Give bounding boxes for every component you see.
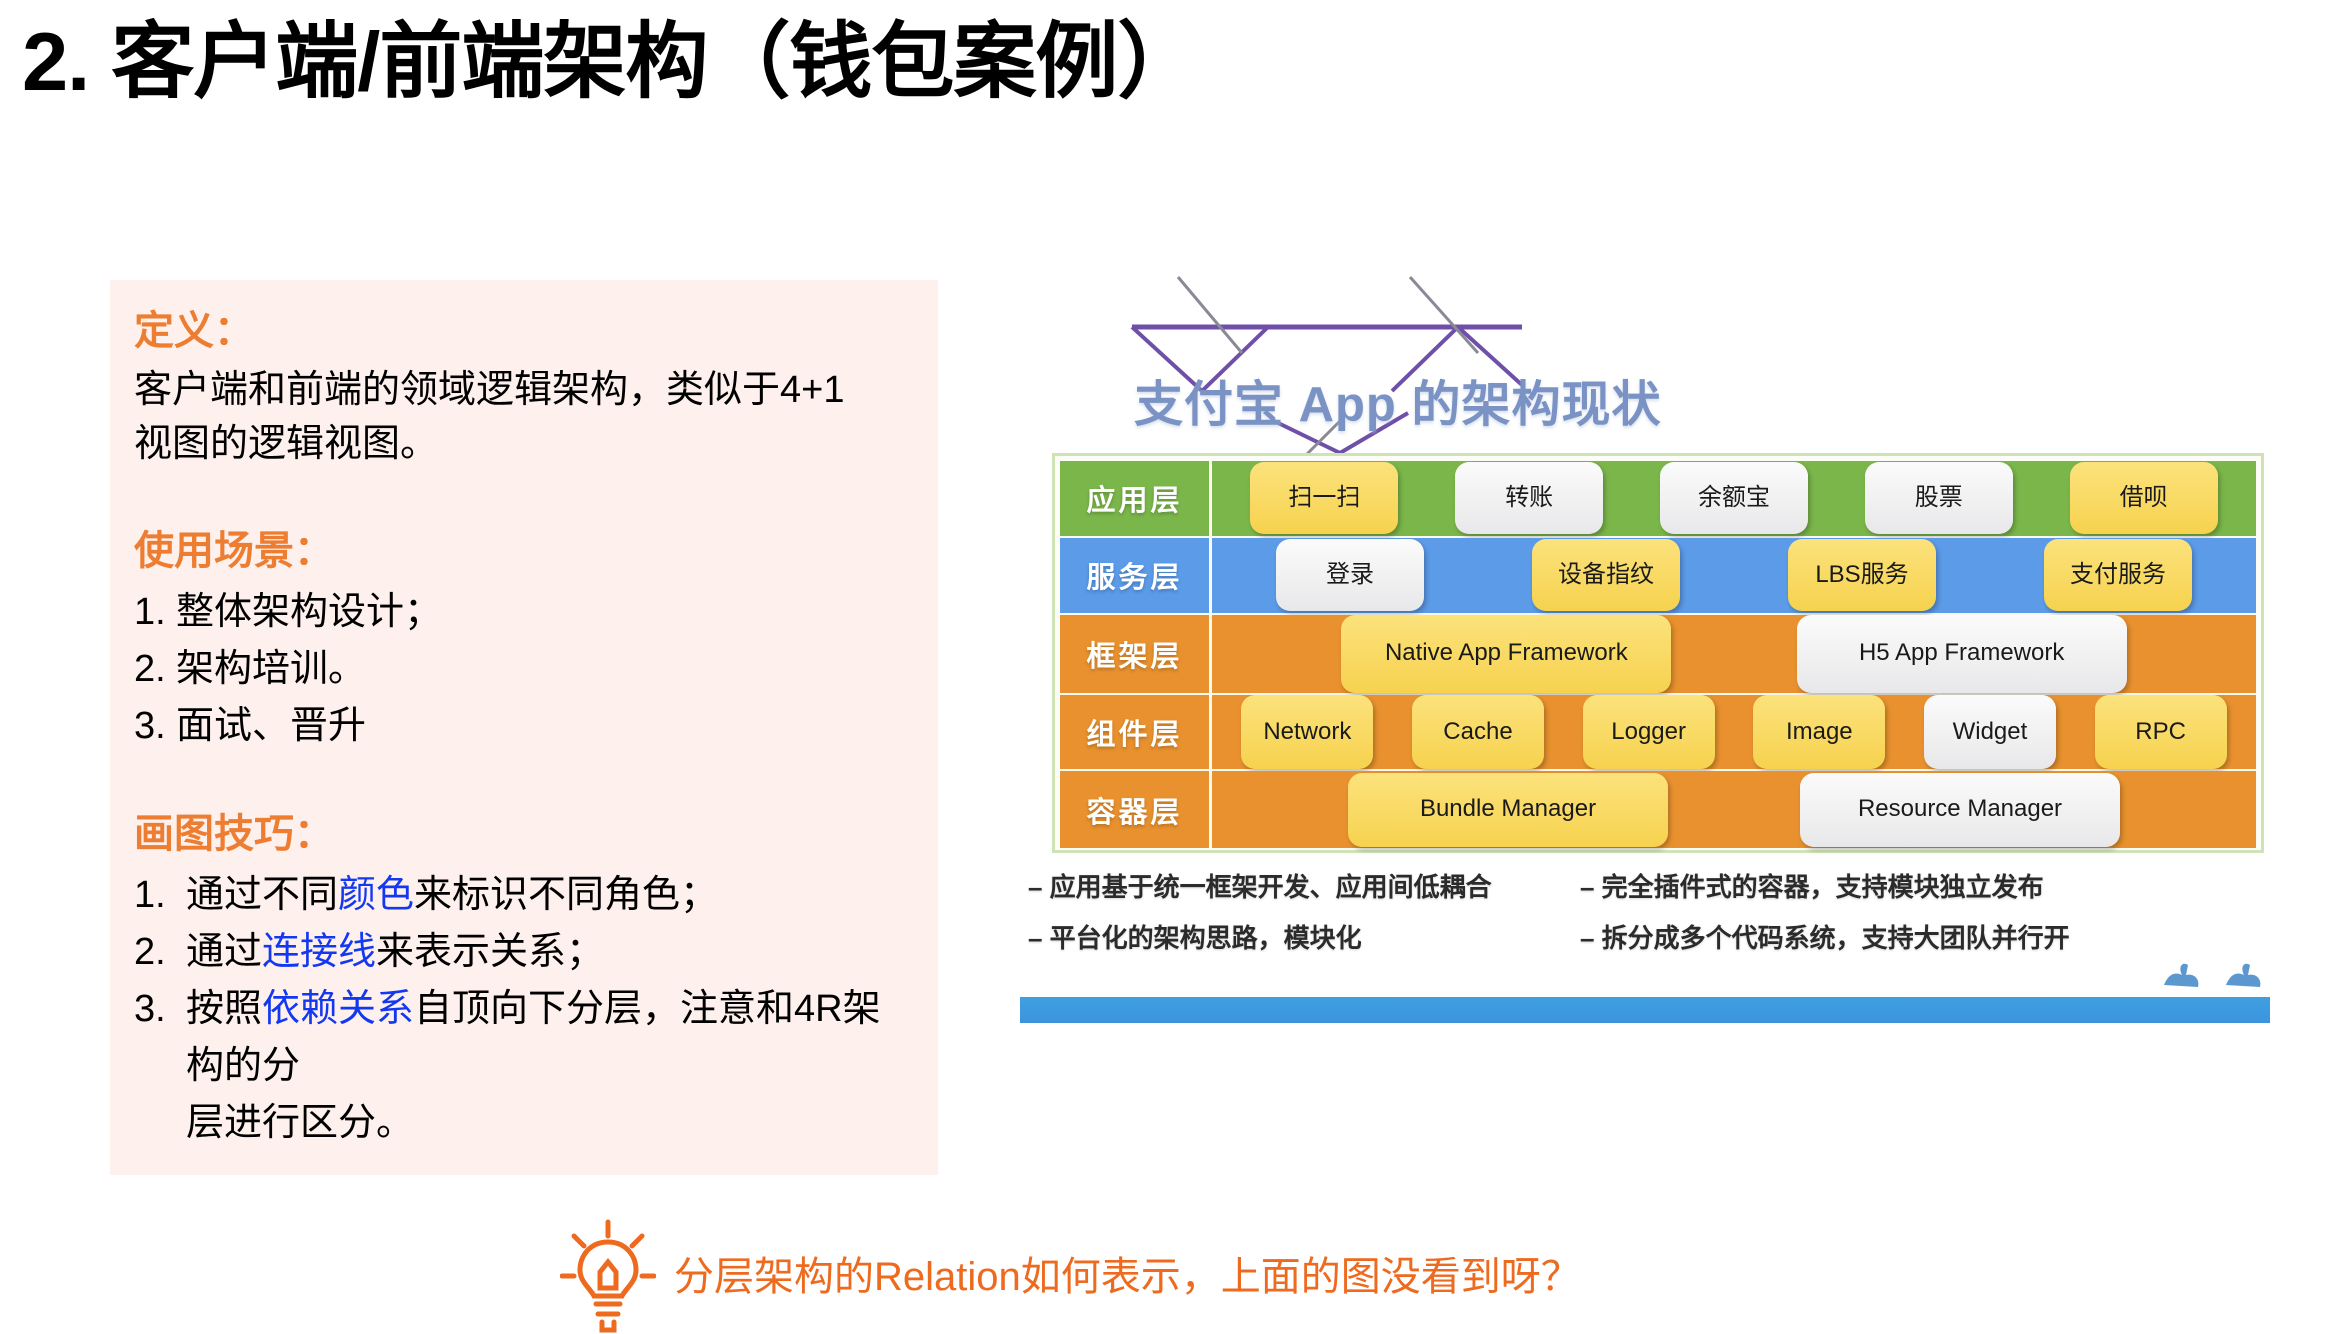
layer-items: 扫一扫 转账 余额宝 股票 借呗 <box>1212 461 2256 536</box>
architecture-diagram: 支付宝 App 的架构现状 应用层 扫一扫 转账 余额宝 股票 借呗 <box>1012 255 2272 1095</box>
chip[interactable]: Widget <box>1924 695 2056 769</box>
chip[interactable]: 支付服务 <box>2044 539 2192 611</box>
chip[interactable]: Image <box>1753 695 1885 769</box>
layer-items: Network Cache Logger Image Widget RPC <box>1212 695 2256 770</box>
list-item-label: 按照依赖关系自顶向下分层，注意和4R架构的分层进行区分。 <box>186 981 908 1152</box>
tips-heading: 画图技巧： <box>134 807 908 861</box>
layer-items: Bundle Manager Resource Manager <box>1212 771 2256 848</box>
tip-text-post: 来表示关系； <box>376 931 604 973</box>
definition-line-1: 客户端和前端的领域逻辑架构，类似于4+1 <box>134 364 908 418</box>
tip-keyword: 连接线 <box>262 931 376 973</box>
layer-label: 服务层 <box>1060 538 1212 613</box>
layers-frame: 应用层 扫一扫 转账 余额宝 股票 借呗 服务层 登录 设备指纹 <box>1052 453 2264 853</box>
chip[interactable]: Network <box>1241 695 1373 769</box>
tip-keyword: 颜色 <box>338 874 414 916</box>
list-item-number: 1. <box>134 867 186 924</box>
list-item-label: 通过不同颜色来标识不同角色； <box>186 867 718 924</box>
blue-footer-bar <box>1020 997 2270 1023</box>
tips-list: 1. 通过不同颜色来标识不同角色； 2. 通过连接线来表示关系； 3. 按照依赖… <box>134 867 908 1152</box>
bird-decoration-icon <box>2152 945 2272 1001</box>
layer-label: 容器层 <box>1060 771 1212 848</box>
chip[interactable]: 余额宝 <box>1660 462 1808 534</box>
chip[interactable]: 登录 <box>1276 539 1424 611</box>
layer-row: 容器层 Bundle Manager Resource Manager <box>1060 771 2256 848</box>
usage-list: 1. 整体架构设计； 2. 架构培训。 3. 面试、晋升 <box>134 584 908 755</box>
layer-row: 框架层 Native App Framework H5 App Framewor… <box>1060 615 2256 695</box>
layer-label: 框架层 <box>1060 615 1212 693</box>
chip[interactable]: 扫一扫 <box>1250 462 1398 534</box>
chip[interactable]: Bundle Manager <box>1348 773 1668 847</box>
tip-text: 分层架构的Relation如何表示，上面的图没看到呀？ <box>674 1257 1581 1297</box>
tips-section: 画图技巧： 1. 通过不同颜色来标识不同角色； 2. 通过连接线来表示关系； 3… <box>134 807 908 1152</box>
note-item: – 应用基于统一框架开发、应用间低耦合 <box>1028 867 1558 904</box>
chip[interactable]: H5 App Framework <box>1797 615 2127 693</box>
bottom-tip: 分层架构的Relation如何表示，上面的图没看到呀？ <box>560 1218 1581 1334</box>
chip[interactable]: 股票 <box>1865 462 2013 534</box>
note-item: – 平台化的架构思路，模块化 <box>1028 918 1558 955</box>
layers-stack: 应用层 扫一扫 转账 余额宝 股票 借呗 服务层 登录 设备指纹 <box>1060 461 2256 845</box>
chip[interactable]: 设备指纹 <box>1532 539 1680 611</box>
chip[interactable]: RPC <box>2095 695 2227 769</box>
layer-label: 应用层 <box>1060 461 1212 536</box>
diagram-header: 支付宝 App 的架构现状 <box>1012 255 2272 453</box>
definition-heading: 定义： <box>134 304 908 358</box>
list-item-number: 2. <box>134 924 186 981</box>
tip-keyword: 依赖关系 <box>262 988 414 1030</box>
list-item-label: 面试、晋升 <box>176 698 366 755</box>
chip[interactable]: Logger <box>1583 695 1715 769</box>
list-item: 3. 面试、晋升 <box>134 698 908 755</box>
usage-section: 使用场景： 1. 整体架构设计； 2. 架构培训。 3. 面试、晋升 <box>134 524 908 755</box>
tip-text-post-2: 层进行区分。 <box>186 1102 414 1144</box>
chip[interactable]: LBS服务 <box>1788 539 1936 611</box>
left-info-panel: 定义： 客户端和前端的领域逻辑架构，类似于4+1 视图的逻辑视图。 使用场景： … <box>110 280 938 1175</box>
spacer-2 <box>134 755 908 807</box>
list-item: 2. 架构培训。 <box>134 641 908 698</box>
definition-section: 定义： 客户端和前端的领域逻辑架构，类似于4+1 视图的逻辑视图。 <box>134 304 908 472</box>
diagram-notes: – 应用基于统一框架开发、应用间低耦合 – 完全插件式的容器，支持模块独立发布 … <box>1028 867 2272 955</box>
list-item-number: 3. <box>134 698 176 755</box>
layer-row: 服务层 登录 设备指纹 LBS服务 支付服务 <box>1060 538 2256 615</box>
list-item-number: 3. <box>134 981 186 1038</box>
tip-text-pre: 通过 <box>186 931 262 973</box>
list-item-number: 2. <box>134 641 176 698</box>
usage-heading: 使用场景： <box>134 524 908 578</box>
slide-root: 2. 客户端/前端架构（钱包案例） 定义： 客户端和前端的领域逻辑架构，类似于4… <box>0 0 2340 1334</box>
chip[interactable]: Native App Framework <box>1341 615 1671 693</box>
spacer-1 <box>134 472 908 524</box>
list-item-number: 1. <box>134 584 176 641</box>
definition-line-2: 视图的逻辑视图。 <box>134 418 908 472</box>
lightbulb-icon <box>560 1218 656 1334</box>
layer-items: 登录 设备指纹 LBS服务 支付服务 <box>1212 538 2256 613</box>
page-title: 2. 客户端/前端架构（钱包案例） <box>22 14 1199 109</box>
layer-row: 应用层 扫一扫 转账 余额宝 股票 借呗 <box>1060 461 2256 538</box>
list-item: 2. 通过连接线来表示关系； <box>134 924 908 981</box>
tip-text-pre: 按照 <box>186 988 262 1030</box>
diagram-title: 支付宝 App 的架构现状 <box>1134 365 1661 436</box>
tip-text-post: 来标识不同角色； <box>414 874 718 916</box>
chip[interactable]: Cache <box>1412 695 1544 769</box>
list-item-label: 通过连接线来表示关系； <box>186 924 604 981</box>
chip[interactable]: 借呗 <box>2070 462 2218 534</box>
list-item-label: 整体架构设计； <box>176 584 442 641</box>
note-item: – 完全插件式的容器，支持模块独立发布 <box>1580 867 2272 904</box>
list-item: 1. 整体架构设计； <box>134 584 908 641</box>
layer-row: 组件层 Network Cache Logger Image Widget RP… <box>1060 695 2256 772</box>
list-item: 3. 按照依赖关系自顶向下分层，注意和4R架构的分层进行区分。 <box>134 981 908 1152</box>
layer-items: Native App Framework H5 App Framework <box>1212 615 2256 693</box>
layer-label: 组件层 <box>1060 695 1212 770</box>
chip[interactable]: Resource Manager <box>1800 773 2120 847</box>
chip[interactable]: 转账 <box>1455 462 1603 534</box>
tip-text-pre: 通过不同 <box>186 874 338 916</box>
list-item-label: 架构培训。 <box>176 641 366 698</box>
list-item: 1. 通过不同颜色来标识不同角色； <box>134 867 908 924</box>
